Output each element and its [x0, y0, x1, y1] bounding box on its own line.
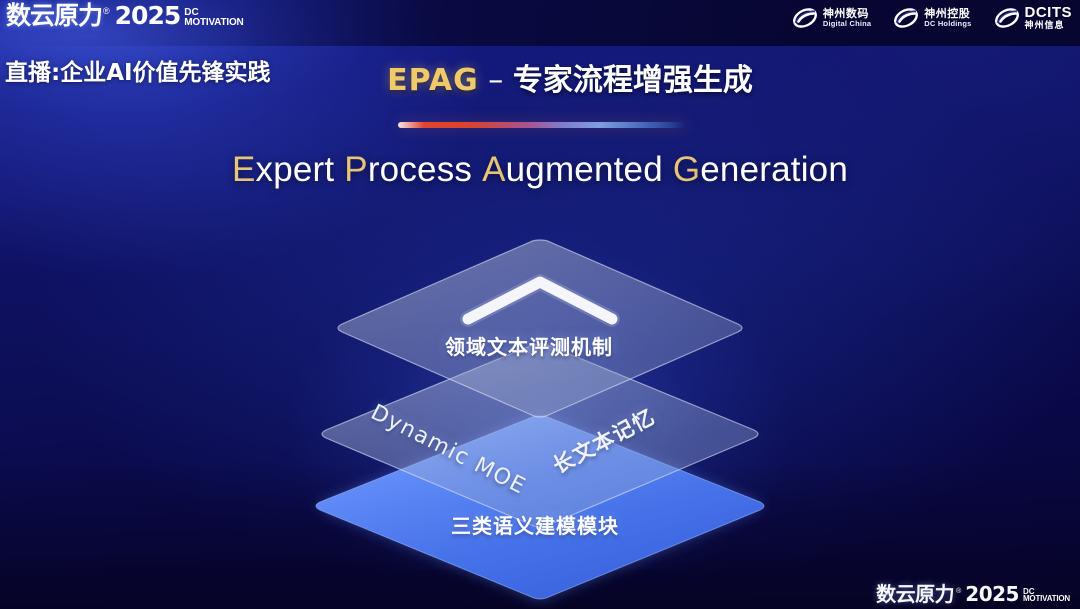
brand-logo: 数云原力 ® 2025 DC MOTIVATION [6, 3, 244, 28]
watermark-cn: 数云原力 [876, 584, 954, 604]
title-dash: – [488, 63, 503, 98]
swoosh-icon [994, 6, 1020, 30]
brand-logo-registered: ® [103, 7, 110, 16]
partner-logo-digital-china-text: 神州数码 Digital China [823, 8, 871, 27]
stack-layer-bottom-label: 三类语义建模模块 [451, 510, 619, 539]
expansion-cap-a: A [482, 150, 506, 189]
expansion-rest-process: rocess [368, 150, 472, 189]
partner-logo-dcits: DCITS 神州信息 [994, 5, 1073, 31]
slide-canvas: 数云原力 ® 2025 DC MOTIVATION 直播:企业AI价值先锋实践 … [0, 0, 1080, 609]
watermark-registered: ® [956, 588, 961, 595]
expansion-rest-augmented: ugmented [506, 150, 663, 189]
swoosh-icon [893, 6, 919, 30]
brand-logo-year: 2025 [115, 3, 181, 28]
swoosh-icon [792, 6, 818, 30]
expansion-rest-expert: xpert [256, 150, 335, 189]
expansion-rest-generation: eneration [700, 150, 848, 189]
partner-name-en: Digital China [823, 20, 871, 28]
title-chinese: 专家流程增强生成 [513, 63, 753, 98]
partner-logo-dcits-text: DCITS 神州信息 [1025, 5, 1073, 31]
partner-logo-digital-china: 神州数码 Digital China [792, 6, 871, 30]
gradient-divider [398, 122, 686, 128]
partner-name-cn: 神州信息 [1025, 21, 1073, 31]
partner-logo-group: 神州数码 Digital China 神州控股 DC Holdings [792, 5, 1072, 31]
stack-layer-top[interactable] [328, 234, 752, 424]
brand-logo-motivation: MOTIVATION [184, 18, 243, 28]
watermark-dc-motivation: DC MOTIVATION [1023, 588, 1070, 603]
watermark-year: 2025 [965, 584, 1019, 604]
stack-layer-top-label: 领域文本评测机制 [445, 331, 613, 360]
brand-logo-dc-motivation: DC MOTIVATION [184, 8, 243, 27]
partner-name-en: DCITS [1025, 5, 1073, 21]
partner-name-en: DC Holdings [924, 20, 971, 28]
expansion-cap-e: E [232, 150, 256, 189]
acronym-expansion: Expert Process Augmented Generation [0, 150, 1080, 190]
title-acronym: EPAG [387, 63, 479, 98]
brand-logo-cn: 数云原力 [6, 3, 102, 28]
live-stream-title: 直播:企业AI价值先锋实践 [5, 53, 271, 87]
footer-watermark-logo: 数云原力 ® 2025 DC MOTIVATION [876, 584, 1070, 604]
watermark-motivation: MOTIVATION [1023, 595, 1070, 603]
expansion-cap-g: G [673, 150, 700, 189]
partner-logo-dc-holdings-text: 神州控股 DC Holdings [924, 8, 971, 27]
partner-logo-dc-holdings: 神州控股 DC Holdings [893, 6, 971, 30]
expansion-cap-p: P [344, 150, 368, 189]
